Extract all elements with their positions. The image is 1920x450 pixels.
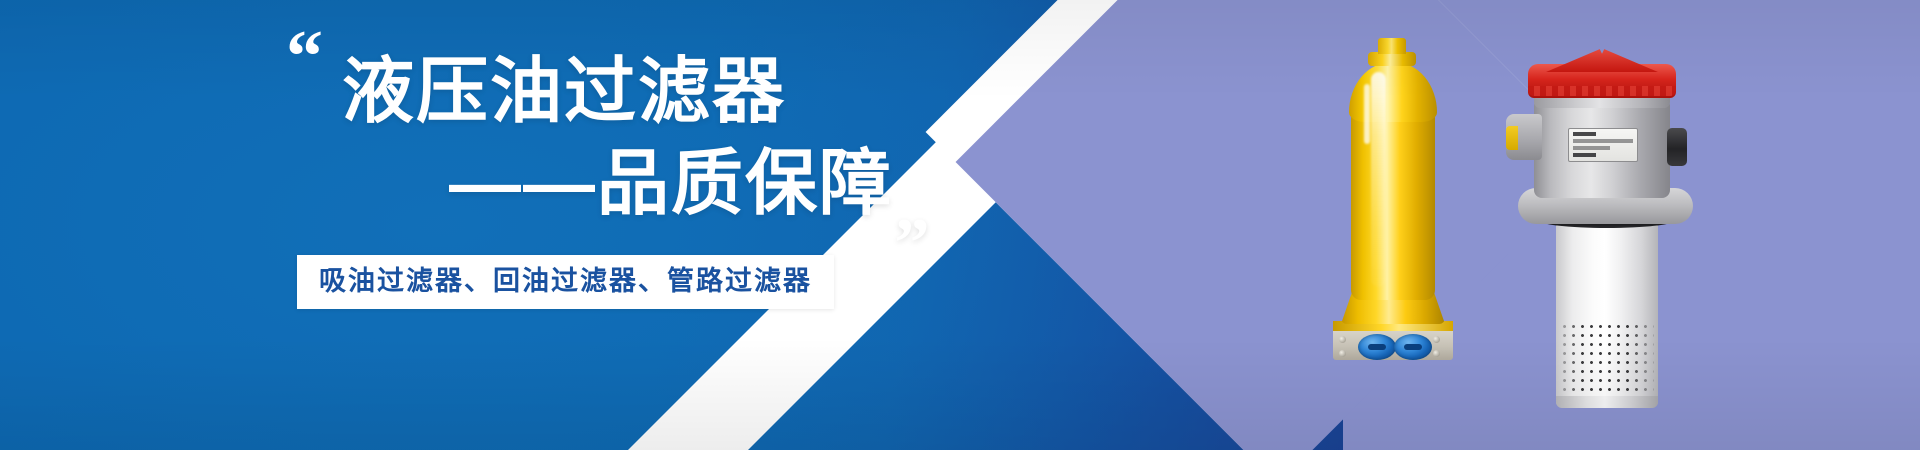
product-nameplate: [1568, 128, 1638, 162]
base-bolt: [1433, 336, 1440, 343]
base-bolt: [1339, 336, 1346, 343]
subtitle-box: 吸油过滤器、回油过滤器、管路过滤器: [297, 255, 834, 309]
filter-highlight: [1371, 72, 1386, 287]
quotation-mark-icon-open: “: [286, 30, 319, 86]
red-cap-peak: [1546, 46, 1658, 72]
port-plug: [1394, 334, 1432, 360]
headline-line-2: ——品质保障„: [342, 148, 926, 243]
side-port-plug: [1506, 126, 1518, 150]
port-plug: [1358, 334, 1396, 360]
product-grey-return-filter: [1482, 40, 1724, 410]
base-bolt: [1339, 350, 1346, 357]
nameplate-line: [1573, 132, 1596, 136]
strainer-perforations: [1560, 322, 1654, 398]
product-yellow-pressure-filter: [1328, 38, 1458, 338]
quotation-mark-icon-close: „: [895, 173, 926, 243]
red-cap-ridge: [1528, 86, 1676, 96]
base-bolt: [1433, 350, 1440, 357]
nameplate-line: [1573, 139, 1633, 143]
headline-line-1: 液压油过滤器: [342, 56, 786, 128]
hydraulic-oil-filter-banner: “ 液压油过滤器 ——品质保障„ 吸油过滤器、回油过滤器、管路过滤器: [0, 0, 1920, 450]
strainer-base-ring: [1556, 396, 1658, 408]
headline-line-2-text: ——品质保障: [449, 144, 893, 224]
port-plug-slot: [1368, 344, 1386, 350]
filter-collar: [1368, 52, 1416, 66]
nameplate-line: [1573, 146, 1610, 150]
filter-highlight-secondary: [1364, 84, 1370, 144]
filter-cap: [1378, 38, 1406, 54]
filter-shoulder: [1349, 62, 1437, 122]
port-plug-slot: [1404, 344, 1422, 350]
subtitle-text: 吸油过滤器、回油过滤器、管路过滤器: [319, 268, 812, 295]
side-knob: [1667, 128, 1687, 166]
nameplate-line: [1573, 153, 1596, 157]
